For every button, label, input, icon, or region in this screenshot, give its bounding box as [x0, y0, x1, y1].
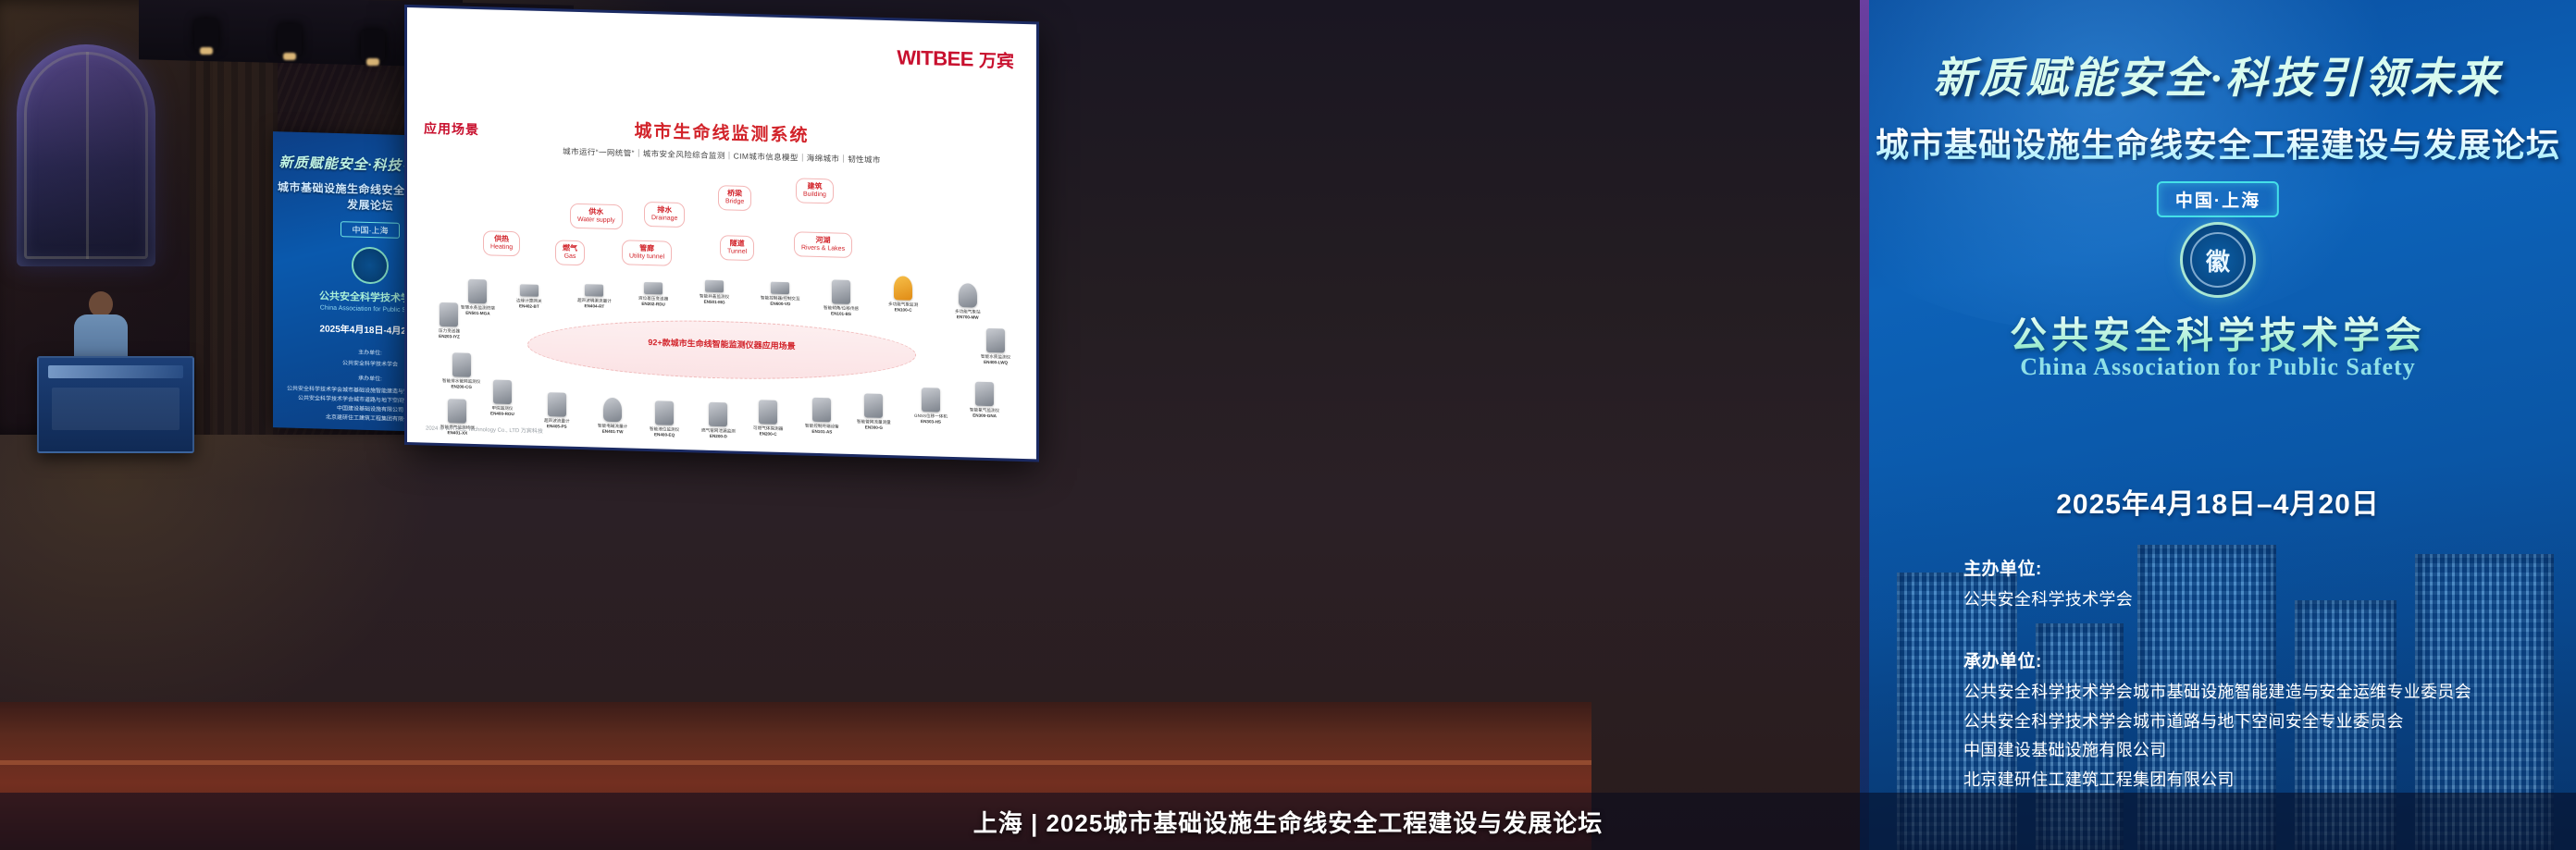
host-label: 主办单位:	[1963, 555, 2133, 580]
device-code: EN400-LWQ	[981, 360, 1010, 365]
association-seal-logo: 徽	[2180, 222, 2256, 298]
coorganizer-item: 公共安全科学技术学会城市基础设施智能建造与安全运维专业委员会	[1963, 678, 2471, 708]
category-pill: 建筑 Building	[796, 178, 834, 203]
device-item: 超声波明渠流量计 EN404-RT	[577, 284, 612, 309]
pill-label-en: Water supply	[577, 216, 615, 226]
pill-label-en: Heating	[490, 243, 513, 252]
sensor-device-icon	[864, 393, 883, 418]
host-item: 公共安全科学技术学会	[1963, 585, 2133, 615]
device-item: 甲烷遥测仪 EN400-ROU	[490, 379, 514, 415]
device-code: EN202-RDU	[638, 301, 668, 306]
category-pill-group: 供水 Water supply 排水 Drainage 桥梁 Bridge 建筑…	[463, 171, 999, 278]
sensor-device-icon	[585, 284, 603, 297]
banner-organization-cn: 公共安全科学技术学会	[1860, 305, 2576, 359]
device-code: EN501-MGA	[461, 310, 495, 315]
sensor-device-icon	[709, 402, 727, 427]
witbee-logo-latin: WITBEE	[897, 45, 973, 71]
device-code: EN400-ROU	[490, 411, 514, 416]
device-code: EN405-PS	[544, 424, 570, 429]
podium-nameplate	[48, 365, 183, 378]
category-pill: 燃气 Gas	[555, 240, 585, 265]
pill-label-en: Building	[803, 191, 826, 200]
category-pill: 隧道 Tunnel	[720, 235, 754, 261]
slide-content: WITBEE 万宾 应用场景 城市生命线监测系统 城市运行“一网统管”｜城市安全…	[407, 7, 1036, 459]
sensor-device-icon	[705, 280, 724, 293]
sensor-device-icon	[452, 352, 471, 377]
device-item: 智能井盖监测仪 EN501-MG	[700, 280, 729, 305]
device-code: EN100-C	[888, 307, 918, 313]
pill-label-zh: 桥梁	[725, 189, 744, 199]
pill-label-zh: 建筑	[803, 182, 826, 192]
category-pill: 管廊 Utility tunnel	[622, 240, 672, 265]
host-block: 主办单位: 公共安全科学技术学会	[1963, 555, 2133, 615]
mini-banner-seal-logo	[352, 246, 389, 284]
device-item: 压力变送器 EN203-IYZ	[439, 302, 460, 339]
device-item: 智能倾角/位移传感 EN101-BS	[824, 279, 859, 316]
seal-glyph: 徽	[2183, 225, 2253, 295]
category-pill: 供水 Water supply	[570, 203, 623, 229]
device-item: 智能氡气监测仪 EN300-GNA	[970, 381, 999, 418]
projection-screen: WITBEE 万宾 应用场景 城市生命线监测系统 城市运行“一网统管”｜城市安全…	[407, 7, 1036, 459]
sensor-device-icon	[922, 388, 940, 413]
category-pill: 供热 Heating	[483, 230, 520, 256]
device-code: EN303-HS	[914, 419, 947, 425]
device-item: 智能控制器/控制交互 EN600-VD	[761, 281, 800, 306]
device-item: 超声波流量计 EN405-PS	[544, 392, 570, 428]
device-code: EN101-AS	[805, 428, 839, 434]
pill-label-zh: 隧道	[727, 239, 747, 249]
sensor-device-icon	[520, 284, 539, 297]
pill-label-zh: 燃气	[563, 244, 577, 253]
device-item: 智能液位监测仪 EN400-EQ	[650, 400, 679, 437]
sensor-device-icon	[771, 282, 789, 295]
sensor-device-icon	[832, 279, 850, 304]
sensor-device-icon	[986, 328, 1005, 353]
podium-panel	[52, 388, 180, 430]
device-item: 智能水质监测仪 EN400-LWQ	[981, 328, 1010, 365]
device-item: 智能排水管网监测仪 EN200-CG	[442, 352, 480, 389]
device-code: EN501-MG	[700, 299, 729, 304]
category-pill: 排水 Drainage	[644, 202, 685, 228]
witbee-logo: WITBEE 万宾	[897, 44, 1014, 72]
pill-label-en: Utility tunnel	[629, 253, 664, 262]
coorganizer-block: 承办单位: 公共安全科学技术学会城市基础设施智能建造与安全运维专业委员会 公共安…	[1963, 647, 2471, 795]
device-item: 多功能气象站 EN700-MW	[955, 283, 981, 319]
device-code: EN401-TW	[598, 428, 627, 434]
device-item: 多功能气象监测 EN100-C	[888, 276, 918, 313]
device-code: EN300-GNA	[970, 413, 999, 418]
device-code: EN203-IYZ	[439, 334, 460, 339]
banner-location-badge: 中国·上海	[2157, 181, 2279, 217]
device-item: 智能电磁流量计 EN401-TW	[598, 398, 627, 435]
device-code: EN200-C	[753, 431, 783, 437]
sensor-device-icon	[812, 398, 831, 423]
bottom-caption-bar: 上海 | 2025城市基础设施生命线安全工程建设与发展论坛	[0, 793, 2576, 850]
pill-label-en: Rivers & Lakes	[801, 245, 845, 254]
sensor-device-icon	[655, 400, 674, 425]
sensor-device-icon	[603, 398, 622, 423]
device-code: EN400-EQ	[650, 432, 679, 437]
device-item: 智能控制终端设备 EN101-AS	[805, 398, 839, 435]
sensor-device-icon	[894, 276, 912, 301]
device-code: EN404-RT	[577, 303, 612, 309]
pill-label-zh: 供热	[490, 234, 513, 244]
device-item: 智能管网流量测量 EN300-G	[857, 393, 891, 430]
sensor-device-icon	[448, 399, 466, 424]
spotlight-icon	[361, 30, 385, 61]
sensor-device-icon	[468, 279, 487, 304]
witbee-logo-chinese: 万宾	[979, 47, 1014, 73]
device-item: 边缘计算网关 EN402-BT	[516, 284, 542, 308]
lectern-podium	[37, 356, 194, 453]
mini-banner-location-badge: 中国·上海	[341, 221, 400, 239]
device-item: 液位差压变送器 EN202-RDU	[638, 282, 668, 307]
spotlight-icon	[278, 24, 302, 55]
event-banner: 新质赋能安全·科技引领未来 城市基础设施生命线安全工程建设与发展论坛 中国·上海…	[1860, 0, 2576, 850]
device-item: 可燃气体探测器 EN200-C	[753, 400, 783, 437]
sensor-device-icon	[959, 283, 977, 308]
category-pill: 河湖 Rivers & Lakes	[794, 231, 852, 257]
coorganizer-item: 北京建研住工建筑工程集团有限公司	[1963, 766, 2471, 795]
sensor-device-icon	[548, 392, 566, 417]
pill-label-en: Bridge	[725, 198, 744, 206]
banner-calligraphy-headline: 新质赋能安全·科技引领未来	[1860, 44, 2576, 105]
spotlight-icon	[194, 18, 218, 50]
sensor-device-icon	[493, 380, 512, 405]
coorganizer-item: 中国建设基础设施有限公司	[1963, 736, 2471, 766]
device-item: 燃气管网泄漏监测 EN200-D	[701, 402, 736, 439]
device-item: 智慧水务监测终端 EN501-MGA	[461, 279, 495, 316]
speaker-head	[89, 291, 113, 317]
device-code: EN300-G	[857, 425, 891, 430]
sensor-device-icon	[644, 282, 663, 295]
banner-forum-title: 城市基础设施生命线安全工程建设与发展论坛	[1860, 118, 2576, 166]
device-code: EN700-MW	[955, 314, 981, 320]
device-item: GNSS位移一体机 EN303-HS	[914, 388, 947, 425]
pill-label-en: Gas	[563, 253, 577, 262]
banner-organization-en: China Association for Public Safety	[1860, 353, 2576, 381]
coorganizer-item: 公共安全科学技术学会城市道路与地下空间安全专业委员会	[1963, 708, 2471, 737]
category-pill: 桥梁 Bridge	[718, 185, 751, 211]
pill-label-en: Drainage	[651, 215, 677, 224]
pill-label-en: Tunnel	[727, 248, 747, 256]
caption-text: 上海 | 2025城市基础设施生命线安全工程建设与发展论坛	[973, 805, 1604, 839]
stage-floor-edge	[0, 760, 1591, 765]
sensor-device-icon	[975, 382, 994, 407]
coorganizer-label: 承办单位:	[1963, 647, 2471, 672]
device-code: EN101-BS	[824, 311, 859, 316]
sensor-device-icon	[440, 302, 458, 327]
device-code: EN200-D	[701, 433, 736, 438]
device-code: EN402-BT	[516, 303, 542, 309]
banner-event-date: 2025年4月18日–4月20日	[1860, 481, 2576, 522]
sensor-device-icon	[759, 400, 777, 425]
